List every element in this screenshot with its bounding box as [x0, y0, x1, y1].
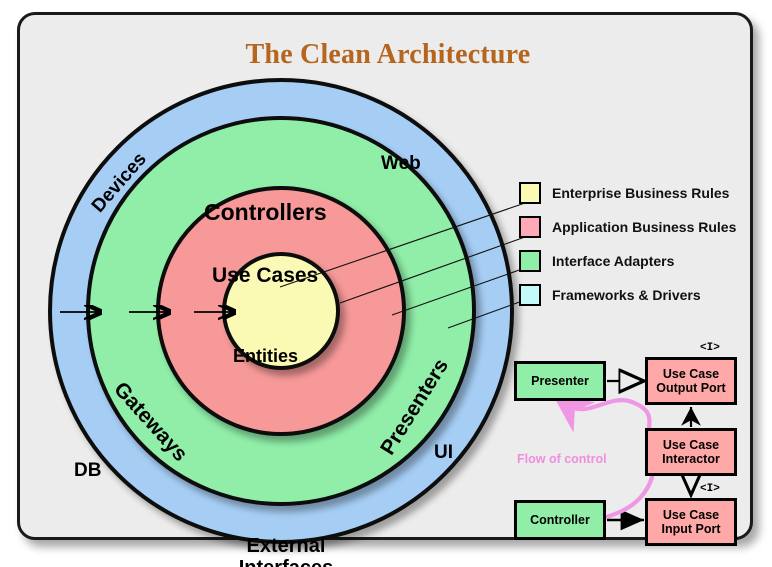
legend-swatch-enterprise-business-rules [519, 182, 541, 204]
legend-swatch-interface-adapters [519, 250, 541, 272]
ring-label-ui: UI [434, 443, 453, 464]
ring-label-entities: Entities [233, 347, 298, 366]
node-label-line2: Output Port [656, 381, 725, 395]
node-use-case-output-port[interactable]: Use Case Output Port [645, 357, 737, 405]
node-label-line1: Use Case [663, 438, 719, 452]
legend-label: Frameworks & Drivers [552, 287, 701, 303]
legend-item: Enterprise Business Rules [519, 178, 764, 208]
ring-label-use-cases: Use Cases [212, 265, 318, 288]
node-label: Use Case Interactor [662, 438, 720, 467]
node-label: Use Case Output Port [656, 367, 725, 396]
flow-of-control-label: Flow of control [517, 452, 607, 466]
node-label-line2: Input Port [661, 522, 720, 536]
legend-label: Application Business Rules [552, 219, 736, 235]
legend-label: Interface Adapters [552, 253, 674, 269]
interface-tag-input-port: <I> [700, 483, 720, 495]
legend-item: Application Business Rules [519, 212, 764, 242]
node-controller[interactable]: Controller [514, 500, 606, 540]
node-use-case-input-port[interactable]: Use Case Input Port [645, 498, 737, 546]
node-label-line1: Use Case [663, 367, 719, 381]
legend: Enterprise Business Rules Application Bu… [519, 178, 764, 314]
interface-tag-output-port: <I> [700, 342, 720, 354]
external-line-2: Interfaces [239, 557, 334, 567]
legend-item: Frameworks & Drivers [519, 280, 764, 310]
ring-label-controllers: Controllers [204, 200, 327, 225]
node-use-case-interactor[interactable]: Use Case Interactor [645, 428, 737, 476]
node-label-line1: Use Case [663, 508, 719, 522]
node-label-line2: Interactor [662, 452, 720, 466]
node-label: Controller [530, 513, 590, 527]
legend-swatch-application-business-rules [519, 216, 541, 238]
flow-of-control-diagram: Presenter Use Case Output Port <I> Use C… [500, 340, 772, 545]
node-presenter[interactable]: Presenter [514, 361, 606, 401]
ring-label-db: DB [74, 461, 101, 482]
legend-label: Enterprise Business Rules [552, 185, 729, 201]
node-label: Use Case Input Port [661, 508, 720, 537]
ring-label-external-interfaces: External Interfaces [216, 536, 356, 567]
diagram-card: The Clean Architecture Devices Web DB [17, 12, 753, 540]
node-label: Presenter [531, 374, 589, 388]
legend-swatch-frameworks-drivers [519, 284, 541, 306]
architecture-circles: Devices Web DB UI Gateways Presenters Co… [26, 66, 506, 546]
legend-item: Interface Adapters [519, 246, 764, 276]
diagram-canvas: The Clean Architecture Devices Web DB [0, 0, 772, 567]
external-line-1: External [247, 535, 326, 557]
ring-label-web: Web [381, 154, 421, 175]
